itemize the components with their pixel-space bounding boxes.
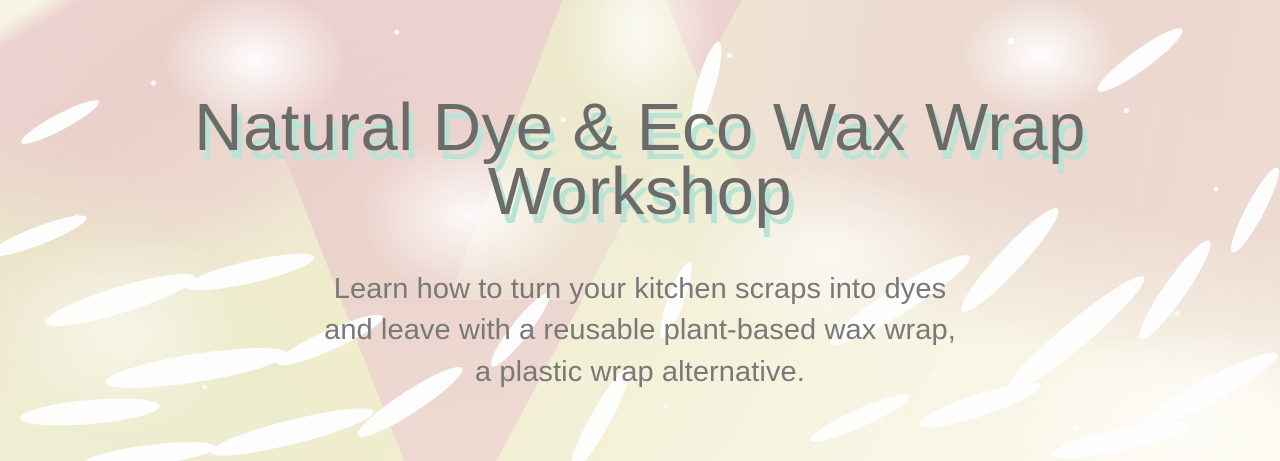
banner-headline: Natural Dye & Eco Wax Wrap Workshop xyxy=(120,96,1160,223)
workshop-promo-banner: Natural Dye & Eco Wax Wrap Workshop Lear… xyxy=(0,0,1280,461)
banner-subheadline: Learn how to turn your kitchen scraps in… xyxy=(324,223,956,393)
banner-content: Natural Dye & Eco Wax Wrap Workshop Lear… xyxy=(0,0,1280,461)
